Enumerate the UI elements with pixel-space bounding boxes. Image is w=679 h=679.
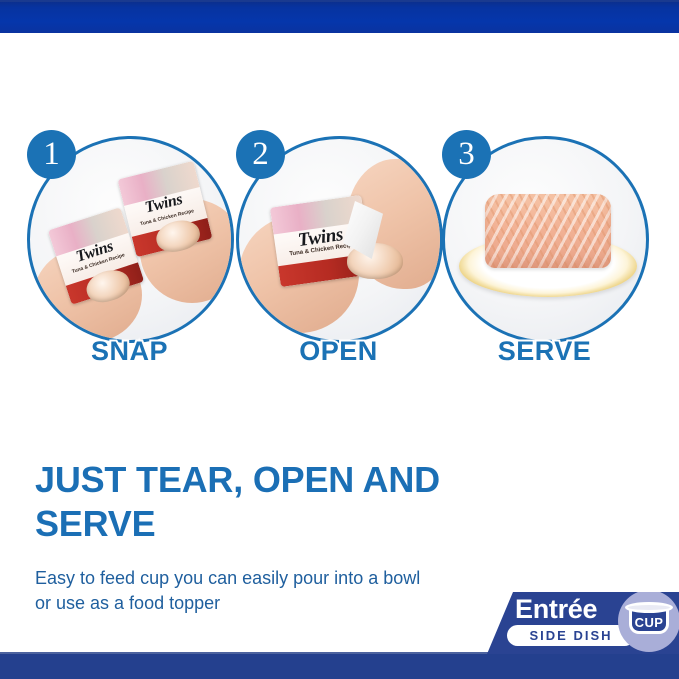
infographic-page: Twins Tuna & Chicken Recipe Twins Tuna &…: [0, 0, 679, 679]
entree-title: Entrée: [515, 594, 597, 625]
bottom-brand-bar: [0, 652, 679, 679]
step-3-number: 3: [442, 130, 491, 179]
step-3: 3 SERVE: [437, 128, 652, 378]
cup-icon: CUP: [618, 590, 679, 652]
cup-rim-icon: [625, 602, 673, 613]
side-dish-label: SIDE DISH: [507, 628, 635, 643]
top-brand-bar: [0, 0, 679, 33]
cup-label: CUP: [618, 615, 679, 630]
step-1: Twins Tuna & Chicken Recipe Twins Tuna &…: [22, 128, 237, 378]
step-1-number: 1: [27, 130, 76, 179]
food-portion: [485, 194, 611, 268]
step-3-label: SERVE: [437, 336, 652, 367]
side-dish-pill: SIDE DISH: [507, 625, 635, 646]
page-headline: JUST TEAR, OPEN AND SERVE: [35, 458, 465, 546]
entree-side-dish-badge: Entrée SIDE DISH CUP: [487, 592, 679, 654]
step-2-label: OPEN: [231, 336, 446, 367]
step-2-number: 2: [236, 130, 285, 179]
steps-row: Twins Tuna & Chicken Recipe Twins Tuna &…: [0, 128, 679, 378]
step-2: Twins Tuna & Chicken Recipe 2 OPEN: [231, 128, 446, 378]
step-1-label: SNAP: [22, 336, 237, 367]
page-subcopy: Easy to feed cup you can easily pour int…: [35, 566, 435, 616]
